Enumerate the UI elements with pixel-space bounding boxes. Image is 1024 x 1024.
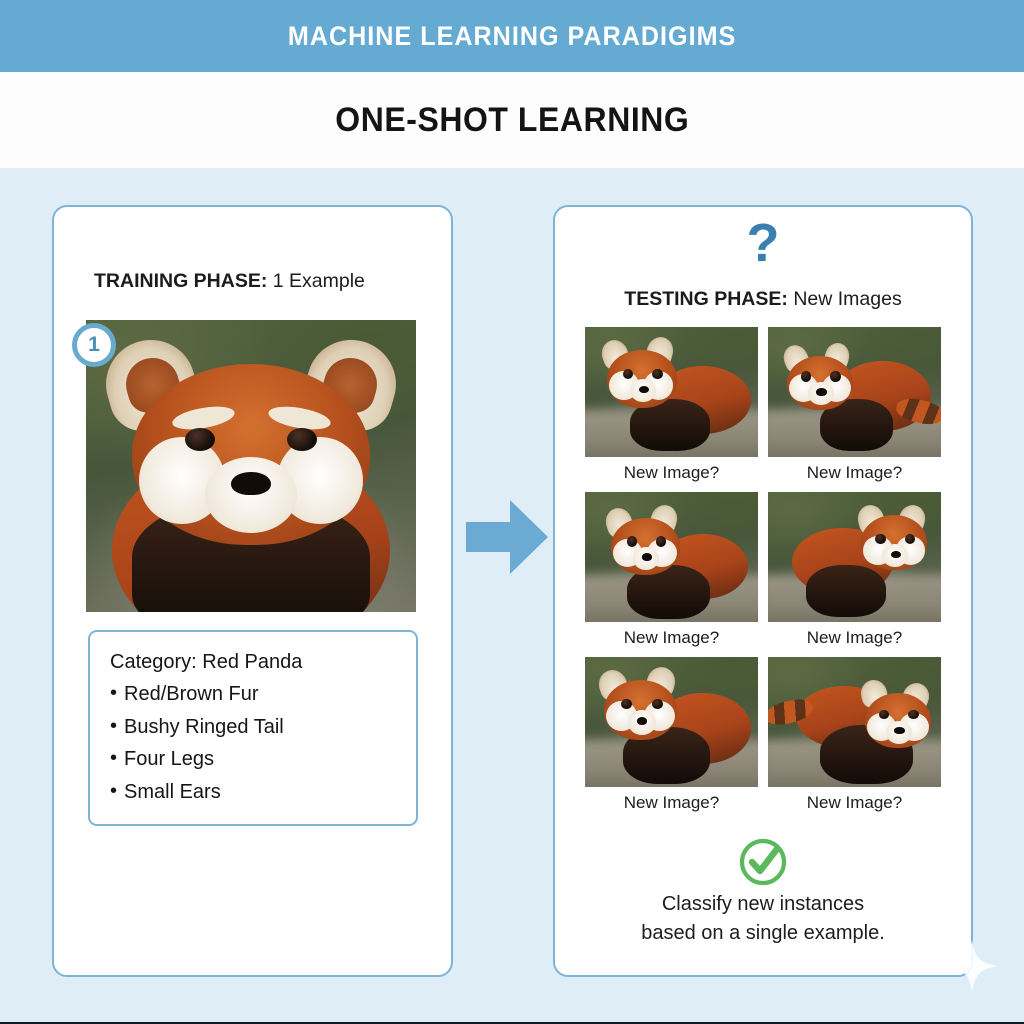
thumbnail-caption: New Image? — [585, 622, 758, 654]
example-count-badge: 1 — [72, 323, 116, 367]
list-item: Four Legs — [110, 743, 416, 776]
page-title: ONE-SHOT LEARNING — [335, 101, 689, 140]
list-item: New Image? — [768, 327, 941, 489]
training-phase-label: TRAINING PHASE: — [94, 270, 267, 292]
conclusion-line-2: based on a single example. — [553, 919, 973, 948]
list-item: New Image? — [585, 327, 758, 489]
test-image-grid: New Image? New Image? — [585, 327, 941, 819]
list-item: New Image? — [768, 657, 941, 819]
thumbnail-caption: New Image? — [585, 787, 758, 819]
training-phase-heading: TRAINING PHASE: 1 Example — [94, 270, 365, 293]
test-thumbnail-photo — [768, 492, 941, 622]
list-item: New Image? — [585, 492, 758, 654]
training-phase-value: 1 Example — [267, 270, 365, 292]
list-item: Small Ears — [110, 776, 416, 809]
list-item: Red/Brown Fur — [110, 678, 416, 711]
question-mark-icon: ? — [553, 216, 973, 270]
thumbnail-caption: New Image? — [768, 787, 941, 819]
testing-phase-label: TESTING PHASE: — [624, 288, 788, 310]
list-item: New Image? — [768, 492, 941, 654]
testing-phase-heading: TESTING PHASE: New Images — [553, 288, 973, 311]
test-thumbnail-photo — [768, 657, 941, 787]
banner-title: MACHINE LEARNING PARADIGIMS — [288, 21, 736, 52]
sparkle-icon — [944, 938, 1000, 994]
green-check-circle-icon — [553, 836, 973, 893]
test-thumbnail-photo — [585, 492, 758, 622]
thumbnail-caption: New Image? — [768, 457, 941, 489]
right-arrow-icon — [466, 498, 548, 576]
thumbnail-caption: New Image? — [585, 457, 758, 489]
category-line: Category: Red Panda — [110, 651, 416, 674]
list-item: New Image? — [585, 657, 758, 819]
category-attributes-box: Category: Red Panda Red/Brown Fur Bushy … — [88, 630, 418, 826]
attribute-list: Red/Brown Fur Bushy Ringed Tail Four Leg… — [110, 678, 416, 808]
training-example-photo — [86, 320, 416, 612]
testing-phase-value: New Images — [788, 288, 902, 310]
conclusion-line-1: Classify new instances — [553, 890, 973, 919]
test-thumbnail-photo — [768, 327, 941, 457]
test-thumbnail-photo — [585, 327, 758, 457]
list-item: Bushy Ringed Tail — [110, 711, 416, 744]
title-band: ONE-SHOT LEARNING — [0, 72, 1024, 168]
test-thumbnail-photo — [585, 657, 758, 787]
conclusion-text: Classify new instances based on a single… — [553, 890, 973, 948]
thumbnail-caption: New Image? — [768, 622, 941, 654]
header-banner: MACHINE LEARNING PARADIGIMS — [0, 0, 1024, 72]
